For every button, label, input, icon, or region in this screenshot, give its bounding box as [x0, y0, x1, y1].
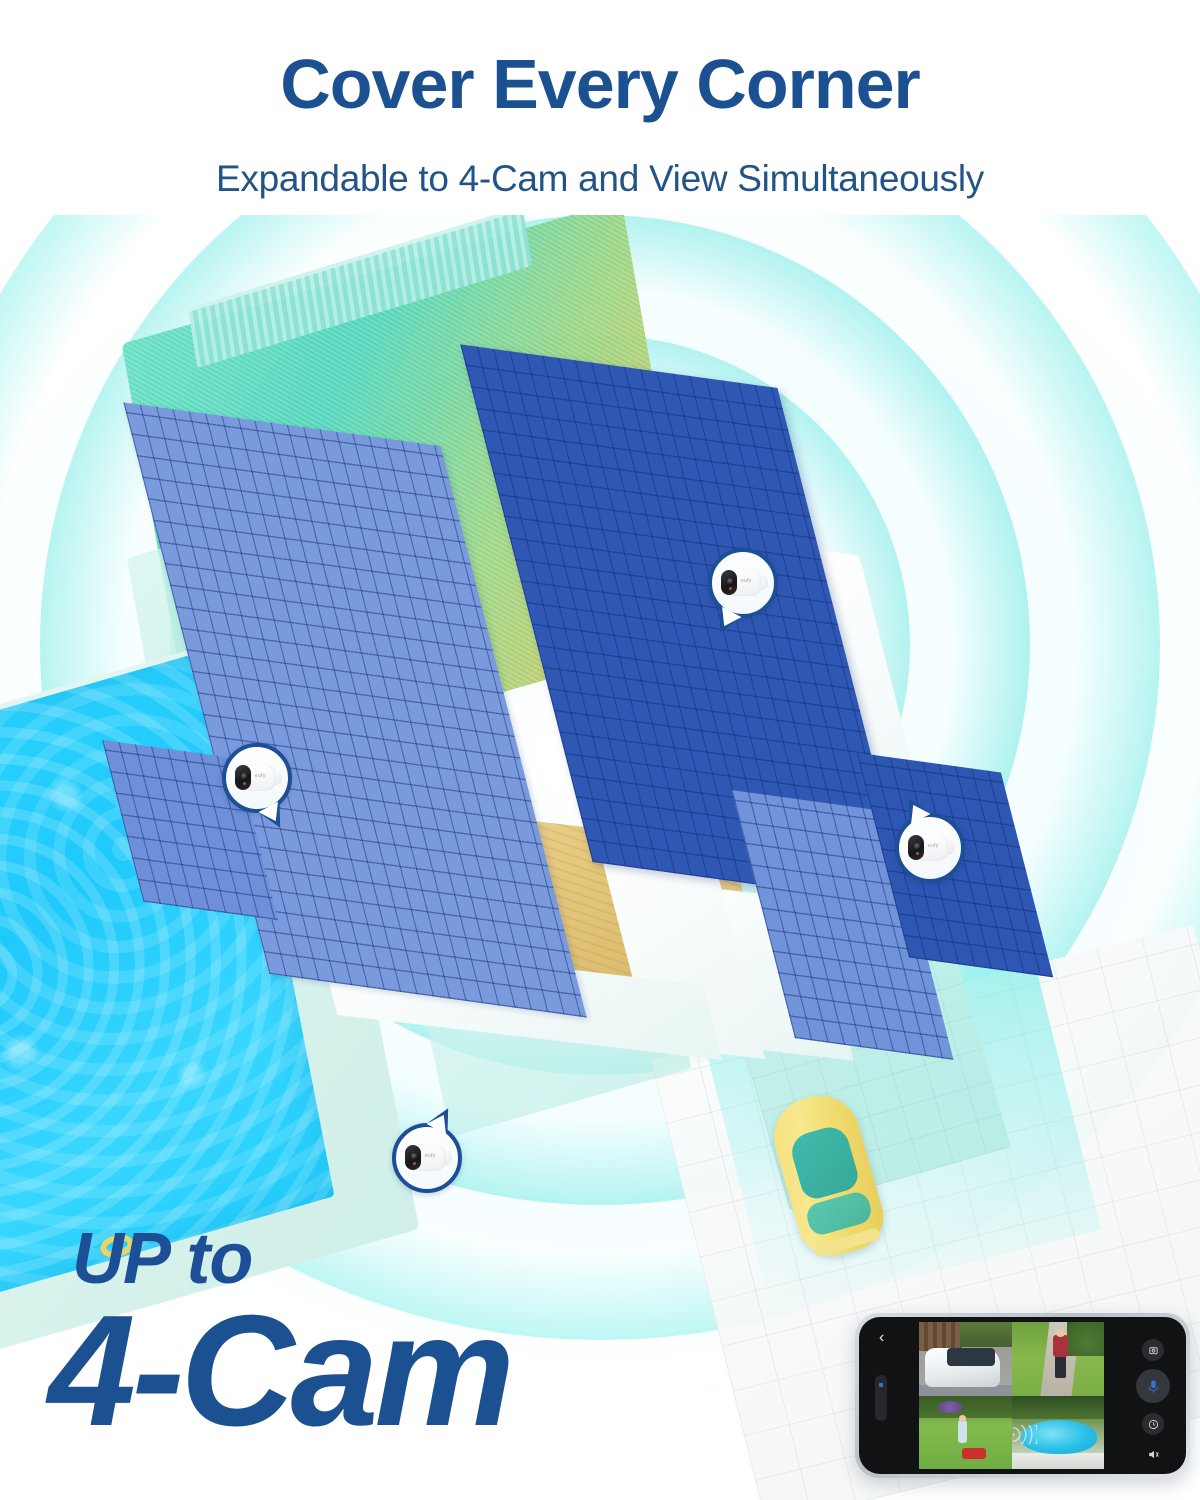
microphone-button[interactable] — [1136, 1369, 1170, 1403]
cam-count-label: 4-Cam — [48, 1292, 511, 1450]
camera-brand-mark: eufy — [425, 1153, 436, 1159]
feed-signal-waves-icon — [1013, 1425, 1037, 1444]
security-camera-icon: eufy — [906, 834, 954, 862]
feed-person-body — [958, 1420, 967, 1442]
camera-face — [721, 570, 737, 595]
camera-lens-icon — [411, 1153, 418, 1160]
phone-controls — [1104, 1317, 1186, 1474]
camera-feed-front-walkway[interactable] — [1012, 1322, 1105, 1396]
camera-bubble-side-yard[interactable]: eufy — [222, 743, 292, 813]
feed-person-head — [1056, 1329, 1065, 1336]
security-camera-icon: eufy — [403, 1144, 451, 1172]
screenshot-button[interactable] — [1142, 1339, 1164, 1361]
security-camera-icon: eufy — [719, 569, 767, 597]
phone-screen: ‹ — [859, 1317, 1186, 1474]
camera-led-icon — [729, 587, 732, 590]
camera-face — [235, 765, 251, 790]
camera-feed-backyard-lawn[interactable] — [919, 1396, 1012, 1470]
camera-led-icon — [243, 782, 246, 785]
camera-bubble-rear-yard[interactable]: eufy — [708, 548, 778, 618]
camera-feed-driveway[interactable] — [919, 1322, 1012, 1396]
camera-brand-mark: eufy — [255, 773, 266, 779]
camera-bubble-garage[interactable]: eufy — [895, 813, 965, 883]
chevron-left-icon[interactable]: ‹ — [879, 1330, 884, 1346]
phone-mockup: ‹ — [855, 1313, 1190, 1478]
camera-feed-pool[interactable] — [1012, 1396, 1105, 1470]
camera-face — [908, 835, 924, 860]
feed-pool-deck — [1012, 1453, 1105, 1469]
feed-hedge — [1012, 1396, 1105, 1420]
page-subtitle: Expandable to 4-Cam and View Simultaneou… — [0, 158, 1200, 200]
feed-windshield — [947, 1348, 995, 1366]
feed-road — [919, 1385, 1012, 1395]
camera-led-icon — [916, 852, 919, 855]
feed-lawnmower — [962, 1448, 986, 1458]
camera-lens-icon — [241, 773, 248, 780]
camera-face — [405, 1145, 421, 1170]
page-title: Cover Every Corner — [0, 48, 1200, 122]
phone-left-rail: ‹ — [859, 1317, 919, 1474]
volume-button[interactable] — [1144, 1445, 1162, 1463]
camera-brand-mark: eufy — [928, 843, 939, 849]
feed-fence — [919, 1322, 962, 1351]
camera-lens-icon — [914, 843, 921, 850]
security-camera-icon: eufy — [233, 764, 281, 792]
feed-flowers — [938, 1401, 962, 1413]
camera-bubble-front-door[interactable]: eufy — [392, 1123, 462, 1193]
camera-led-icon — [413, 1162, 416, 1165]
house — [180, 365, 1000, 1005]
camera-lens-icon — [727, 578, 734, 585]
feed-person-legs — [1055, 1356, 1066, 1378]
feed-shrubs — [919, 1396, 1012, 1418]
phone-dynamic-island — [875, 1375, 887, 1421]
record-button[interactable] — [1142, 1413, 1164, 1435]
feed-tree — [1067, 1322, 1104, 1356]
feed-foliage — [960, 1322, 1012, 1347]
feed-person-head — [959, 1415, 966, 1422]
camera-brand-mark: eufy — [741, 578, 752, 584]
camera-quad-view — [919, 1322, 1104, 1469]
feed-person-body — [1053, 1335, 1068, 1357]
